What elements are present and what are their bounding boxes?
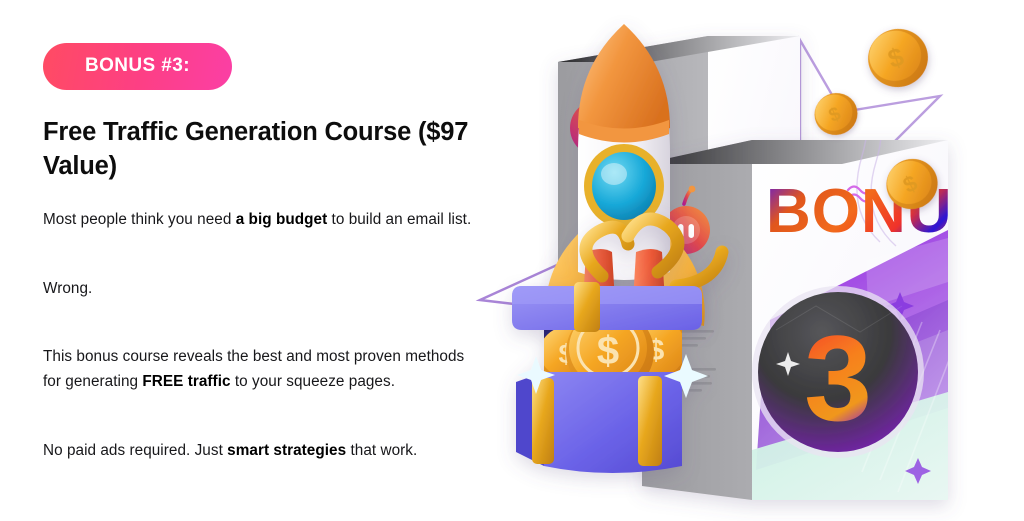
floating-coin-icon: $ <box>808 86 864 142</box>
bonus-number-badge: 3 <box>752 286 924 458</box>
box-title: BONUS <box>766 177 995 246</box>
bonus-section: BONUS #3: Free Traffic Generation Course… <box>0 0 1024 521</box>
ribbon-lid <box>574 282 600 332</box>
paragraph-4-post: that work. <box>346 442 417 459</box>
paragraph-1-post: to build an email list. <box>327 211 471 228</box>
paragraph-1: Most people think you need a big budget … <box>43 208 473 233</box>
bonus-text-column: BONUS #3: Free Traffic Generation Course… <box>43 43 473 464</box>
paragraph-3-bold: FREE traffic <box>142 373 230 390</box>
paragraph-1-pre: Most people think you need <box>43 211 236 228</box>
paragraph-4-pre: No paid ads required. Just <box>43 442 227 459</box>
floating-coin-icon: $ <box>861 21 936 95</box>
paragraph-4-bold: smart strategies <box>227 442 346 459</box>
paragraph-2-pre: Wrong. <box>43 280 92 297</box>
bonus-description: Most people think you need a big budget … <box>43 208 473 464</box>
bonus-number: 3 <box>804 310 872 446</box>
paragraph-3-post: to your squeeze pages. <box>231 373 395 390</box>
bonus-product-graphic: BONUS 3 <box>470 0 1024 521</box>
svg-text:$: $ <box>597 329 619 373</box>
ribbon-vertical <box>638 376 662 466</box>
page-title: Free Traffic Generation Course ($97 Valu… <box>43 116 473 184</box>
paragraph-2: Wrong. <box>43 277 473 302</box>
bonus-badge: BONUS #3: <box>43 43 232 90</box>
paragraph-4: No paid ads required. Just smart strateg… <box>43 439 473 464</box>
paragraph-3: This bonus course reveals the best and m… <box>43 345 473 395</box>
paragraph-1-bold: a big budget <box>236 211 328 228</box>
